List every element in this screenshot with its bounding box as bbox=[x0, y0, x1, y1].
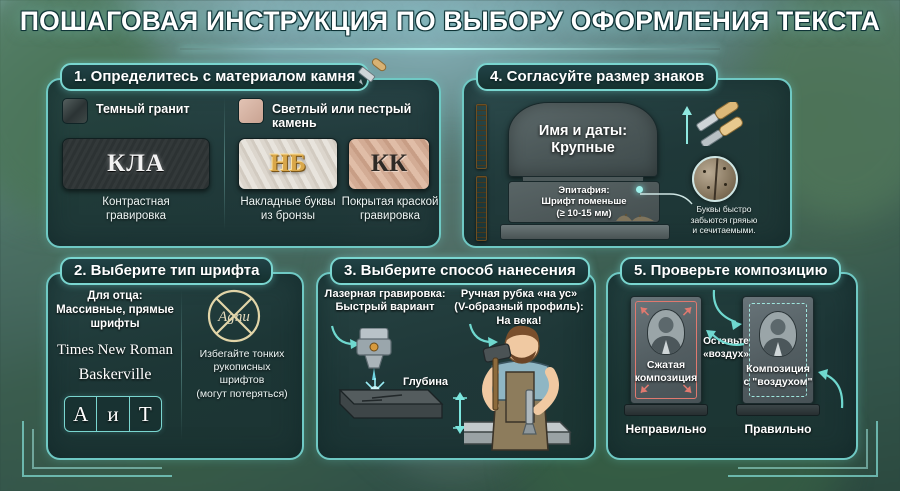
panel-material-divider bbox=[224, 98, 225, 230]
font-advice-title: Для отца: bbox=[54, 290, 176, 304]
light-stone-swatch bbox=[238, 98, 264, 124]
monument-good: Композиция с "воздухом" bbox=[742, 296, 814, 404]
ruler-icon-bottom bbox=[476, 176, 487, 241]
chisel-icon-pair bbox=[696, 102, 750, 146]
portrait-bad bbox=[647, 309, 685, 355]
sample-painted-engraving: КК bbox=[348, 138, 430, 190]
monument-good-base bbox=[736, 404, 820, 416]
headstone-plinth bbox=[500, 224, 670, 240]
verdict-good: Правильно bbox=[728, 422, 828, 436]
monument-bad-base bbox=[624, 404, 708, 416]
no-script-font-icon: Аgnu bbox=[200, 288, 268, 344]
granite-slab-icon bbox=[324, 382, 444, 430]
font-advice-line-2: шрифты bbox=[90, 318, 139, 330]
font-sample-baskerville: Baskerville bbox=[52, 366, 178, 384]
laser-head-icon bbox=[354, 328, 394, 380]
panel-composition: 5. Проверьте композицию Сжатая композици… bbox=[606, 272, 858, 460]
dark-granite-label: Темный гранит bbox=[96, 102, 190, 116]
panel-application-method: 3. Выберите способ нанесения Лазерная гр… bbox=[316, 272, 596, 460]
depth-label: Глубина bbox=[378, 376, 448, 388]
up-arrow-icon bbox=[680, 104, 694, 144]
base-line-1: Эпитафия: bbox=[541, 185, 626, 197]
laser-label: Лазерная гравировка: Быстрый вариант bbox=[324, 288, 446, 315]
panel-font-type-heading: 2. Выберите тип шрифта bbox=[60, 257, 273, 285]
monument-bad-text: Сжатая композиция bbox=[631, 359, 701, 384]
stele-line-1: Имя и даты: bbox=[539, 123, 627, 140]
ruler-icon-top bbox=[476, 104, 487, 169]
verdict-bad: Неправильно bbox=[616, 422, 716, 436]
letter-sample-i: и bbox=[97, 397, 129, 431]
panel-material-heading: 1. Определитесь с материалом камня bbox=[60, 63, 369, 91]
portrait-good bbox=[759, 311, 797, 357]
panel-sign-size: 4. Согласуйте размер знаков Имя и даты: … bbox=[462, 78, 792, 248]
font-advice: Для отца: Массивные, прямые шрифты bbox=[54, 290, 176, 331]
sample-dark-granite: КЛА bbox=[62, 138, 210, 190]
panel-material: 1. Определитесь с материалом камня Темны… bbox=[46, 78, 441, 248]
stonemason-worker-icon bbox=[464, 318, 588, 452]
font-advice-line-1: Массивные, прямые bbox=[56, 304, 174, 316]
chisel-icon bbox=[355, 58, 391, 88]
sample-bronze-letters: НБ bbox=[238, 138, 338, 190]
letter-sample-t: Т bbox=[130, 397, 161, 431]
panel-composition-heading: 5. Проверьте композицию bbox=[620, 257, 841, 285]
dirt-warning-note: Буквы быстро забьются гряяью и сечитаемы… bbox=[678, 204, 770, 236]
air-advice: Оставьте «воздух» bbox=[700, 336, 752, 361]
sample-caption-3: Покрытая краской гравировка bbox=[340, 196, 440, 223]
page-title: ПОШАГОВАЯ ИНСТРУКЦИЯ ПО ВЫБОРУ ОФОРМЛЕНИ… bbox=[0, 6, 900, 37]
title-underline bbox=[180, 48, 720, 50]
font-sample-times: Times New Roman bbox=[52, 342, 178, 359]
light-stone-label: Светлый или пестрый камень bbox=[272, 102, 439, 130]
sample-caption-1: Контрастная гравировка bbox=[62, 196, 210, 223]
letter-sample-a: А bbox=[65, 397, 97, 431]
magnifier-dirt-icon bbox=[692, 156, 738, 202]
panel-sign-size-heading: 4. Согласуйте размер знаков bbox=[476, 63, 718, 91]
dark-granite-swatch bbox=[62, 98, 88, 124]
monument-good-text: Композиция с "воздухом" bbox=[743, 363, 813, 388]
panel-font-type: 2. Выберите тип шрифта Для отца: Массивн… bbox=[46, 272, 304, 460]
font-warning: Избегайте тонких рукописных шрифтов (мог… bbox=[184, 348, 300, 401]
letter-samples: А и Т bbox=[64, 396, 162, 432]
panel-application-heading: 3. Выберите способ нанесения bbox=[330, 257, 590, 285]
monument-bad: Сжатая композиция bbox=[630, 296, 702, 404]
headstone-top: Имя и даты: Крупные bbox=[508, 102, 658, 177]
stele-line-2: Крупные bbox=[551, 140, 615, 157]
sample-caption-2: Накладные буквы из бронзы bbox=[228, 196, 348, 223]
panel-font-divider bbox=[181, 290, 182, 440]
